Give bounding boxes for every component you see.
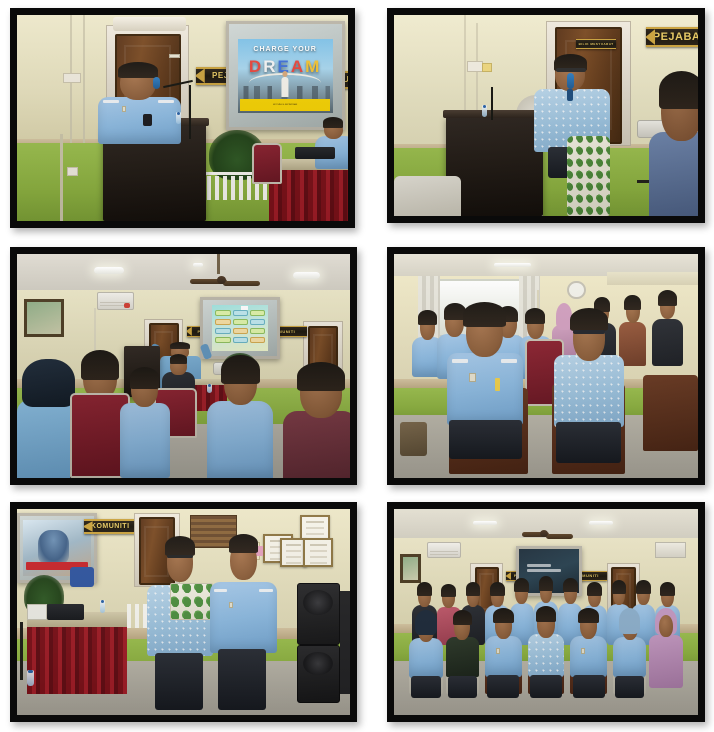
photo-2-image: BILIK MESYUARAT PEJABAT	[394, 15, 698, 216]
photo-frame-2[interactable]: BILIK MESYUARAT PEJABAT	[387, 8, 705, 223]
photo-5-image: KOMUNITI	[17, 509, 350, 715]
photo-frame-3[interactable]: PEJABAT KOMUNITI	[10, 247, 357, 485]
photo-frame-6[interactable]: PEJABAT KOMUNITI	[387, 502, 705, 722]
photo-frame-5[interactable]: KOMUNITI	[10, 502, 357, 722]
photo-frame-1[interactable]: PEJABAT KOMUNITI CHARGE YOUR DREAM	[10, 8, 355, 228]
photo-4-image	[394, 254, 698, 478]
photo-1-image: PEJABAT KOMUNITI CHARGE YOUR DREAM	[17, 15, 348, 221]
photo-3-image: PEJABAT KOMUNITI	[17, 254, 350, 478]
photo-6-image: PEJABAT KOMUNITI	[394, 509, 698, 715]
photo-collage: PEJABAT KOMUNITI CHARGE YOUR DREAM	[0, 0, 714, 732]
photo-frame-4[interactable]	[387, 247, 705, 485]
